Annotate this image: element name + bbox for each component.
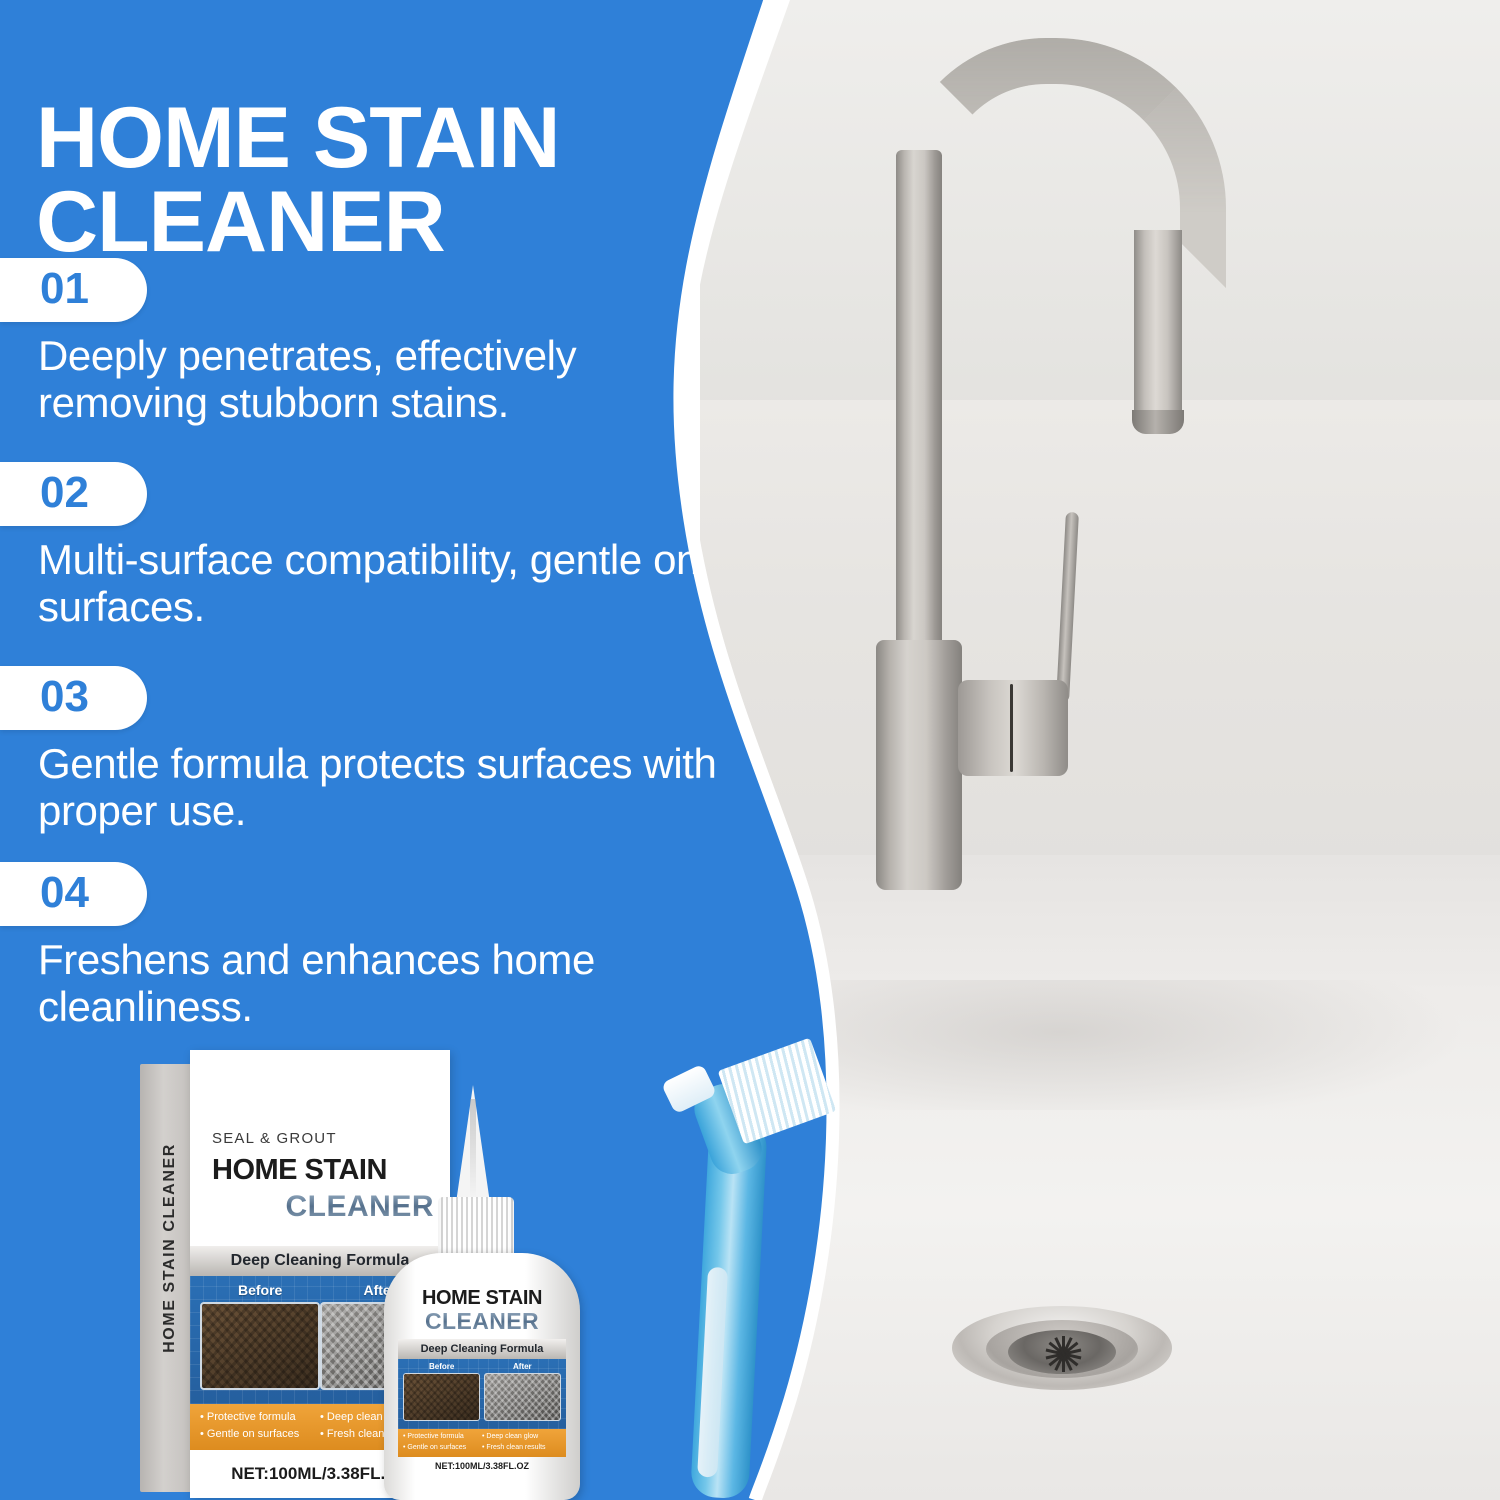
faucet-spout-outlet	[1132, 410, 1184, 434]
feature-text-01: Deeply penetrates, effectively removing …	[38, 332, 720, 426]
bottle-net-weight: NET:100ML/3.38FL.OZ	[398, 1461, 566, 1471]
drain-basket	[1008, 1330, 1116, 1374]
faucet-handle-hub	[958, 680, 1068, 776]
feature-text-03: Gentle formula protects surfaces with pr…	[38, 740, 720, 834]
carton-title-line-1: HOME STAIN	[212, 1154, 387, 1187]
bottle-tip-highlight	[470, 1099, 476, 1199]
bottle-body: HOME STAIN CLEANER Deep Cleaning Formula…	[384, 1253, 580, 1500]
bottle-after-block: After	[484, 1362, 561, 1421]
headline-line-2: CLEANER	[36, 180, 736, 264]
product-marketing-image: HOME STAIN CLEANER 01 Deeply penetrates,…	[0, 0, 1500, 1500]
carton-eyebrow: SEAL & GROUT	[212, 1130, 337, 1147]
bottle-bullet: Protective formula	[403, 1432, 482, 1443]
sink-drain-strainer	[952, 1300, 1172, 1396]
bottle-cap	[438, 1197, 514, 1259]
bottle-title-line-1: HOME STAIN	[398, 1287, 566, 1310]
feature-item-02: 02 Multi-surface compatibility, gentle o…	[0, 462, 720, 630]
feature-item-04: 04 Freshens and enhances home cleanlines…	[0, 862, 720, 1030]
bottle-before-image	[403, 1373, 480, 1421]
feature-badge-01: 01	[0, 258, 147, 322]
page-title: HOME STAIN CLEANER	[36, 96, 736, 265]
product-shot-group: HOME STAIN CLEANER SEAL & GROUT HOME STA…	[140, 1050, 700, 1500]
faucet-body	[876, 640, 962, 890]
bottle-label: HOME STAIN CLEANER Deep Cleaning Formula…	[398, 1287, 566, 1471]
bottle-after-label: After	[484, 1362, 561, 1371]
feature-item-03: 03 Gentle formula protects surfaces with…	[0, 666, 720, 834]
carton-side-text: HOME STAIN CLEANER	[161, 1068, 179, 1428]
product-bottle: HOME STAIN CLEANER Deep Cleaning Formula…	[378, 1085, 583, 1500]
bottle-before-after-panel: Before After	[398, 1359, 566, 1429]
feature-badge-03: 03	[0, 666, 147, 730]
headline-line-1: HOME STAIN	[36, 90, 560, 186]
feature-text-04: Freshens and enhances home cleanliness.	[38, 936, 720, 1030]
bottle-bullet: Gentle on surfaces	[403, 1443, 482, 1454]
feature-badge-02: 02	[0, 462, 147, 526]
carton-bullet: Protective formula	[200, 1409, 320, 1426]
bottle-bullets-right: Deep clean glow Fresh clean results	[482, 1432, 561, 1454]
bottle-after-image	[484, 1373, 561, 1421]
feature-item-01: 01 Deeply penetrates, effectively removi…	[0, 258, 720, 426]
backsplash	[700, 400, 1500, 880]
carton-before-image	[200, 1302, 320, 1390]
faucet-spout-column	[896, 150, 942, 710]
carton-before-label: Before	[200, 1282, 320, 1298]
bottle-bullet: Fresh clean results	[482, 1443, 561, 1454]
feature-text-02: Multi-surface compatibility, gentle on s…	[38, 536, 720, 630]
bottle-bullet-band: Protective formula Gentle on surfaces De…	[398, 1429, 566, 1457]
detail-cleaning-brush	[640, 1058, 820, 1498]
bottle-before-block: Before	[403, 1362, 480, 1421]
feature-badge-04: 04	[0, 862, 147, 926]
faucet-spout-downturn	[1134, 230, 1182, 430]
bottle-before-label: Before	[403, 1362, 480, 1371]
bottle-bullet: Deep clean glow	[482, 1432, 561, 1443]
bottle-formula-band: Deep Cleaning Formula	[398, 1339, 566, 1359]
carton-side-panel: HOME STAIN CLEANER	[140, 1064, 192, 1492]
bottle-title-line-2: CLEANER	[398, 1308, 566, 1335]
faucet-photo	[700, 0, 1500, 1500]
carton-bullet: Gentle on surfaces	[200, 1426, 320, 1443]
bottle-bullets-left: Protective formula Gentle on surfaces	[403, 1432, 482, 1454]
carton-before-block: Before	[200, 1282, 320, 1390]
carton-bullets-left: Protective formula Gentle on surfaces	[200, 1409, 320, 1445]
